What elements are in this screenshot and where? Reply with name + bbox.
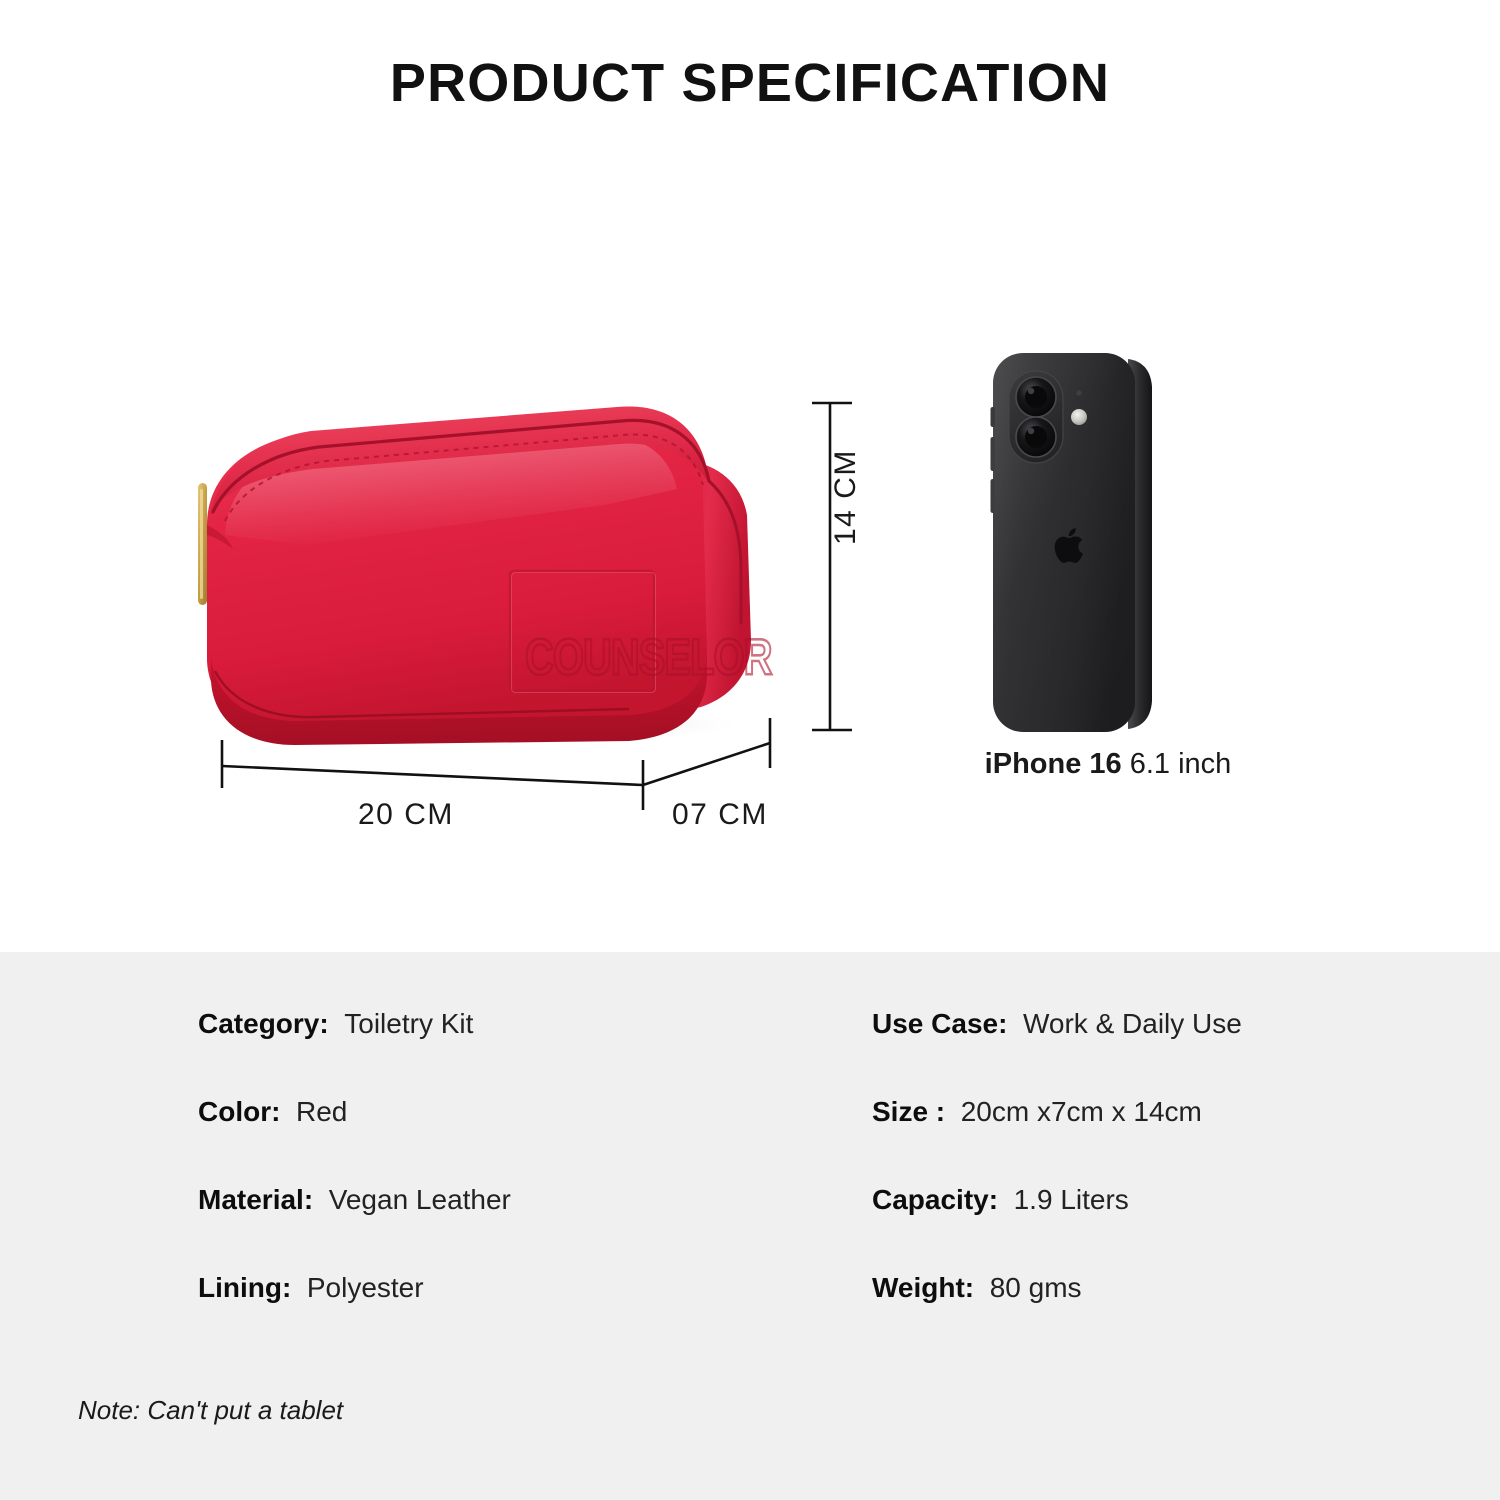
- spec-key: Use Case:: [872, 1008, 1007, 1039]
- spec-row: Category: Toiletry Kit: [198, 980, 818, 1068]
- spec-value: Polyester: [307, 1272, 424, 1303]
- spec-row: Lining: Polyester: [198, 1244, 818, 1332]
- spec-value: Vegan Leather: [329, 1184, 511, 1215]
- spec-row: Capacity: 1.9 Liters: [872, 1156, 1472, 1244]
- reference-phone-caption: iPhone 16 6.1 inch: [0, 748, 1500, 781]
- spec-row: Color: Red: [198, 1068, 818, 1156]
- spec-value: 20cm x7cm x 14cm: [961, 1096, 1202, 1127]
- brand-emboss-text: COUNSELOR: [525, 627, 772, 685]
- phone-action-button: [991, 407, 996, 427]
- spec-key: Material:: [198, 1184, 313, 1215]
- spec-note: Note: Can't put a tablet: [78, 1395, 343, 1426]
- phone-volume-button-up: [991, 437, 996, 471]
- spec-key: Weight:: [872, 1272, 974, 1303]
- phone-microphone-icon: [1076, 390, 1081, 395]
- spec-row: Material: Vegan Leather: [198, 1156, 818, 1244]
- phone-camera-lens-top-glint: [1028, 388, 1034, 394]
- spec-row: Weight: 80 gms: [872, 1244, 1472, 1332]
- spec-key: Color:: [198, 1096, 280, 1127]
- spec-key: Category:: [198, 1008, 329, 1039]
- zipper-pull-highlight: [200, 489, 203, 599]
- spec-value: 80 gms: [990, 1272, 1082, 1303]
- spec-value: Red: [296, 1096, 347, 1127]
- dimension-depth-label: 07 CM: [672, 798, 768, 832]
- spec-key: Capacity:: [872, 1184, 998, 1215]
- phone-camera-lens-bottom-glint: [1028, 428, 1034, 434]
- spec-key: Lining:: [198, 1272, 291, 1303]
- spec-key: Size :: [872, 1096, 945, 1127]
- phone-model-label: iPhone 16: [985, 748, 1122, 780]
- spec-column-right: Use Case: Work & Daily Use Size : 20cm x…: [872, 980, 1472, 1332]
- dimension-width-label: 20 CM: [358, 798, 454, 832]
- phone-flash-icon: [1071, 409, 1087, 425]
- dimension-height-label: 14 CM: [829, 449, 863, 545]
- spec-row: Size : 20cm x7cm x 14cm: [872, 1068, 1472, 1156]
- product-image-pouch: COUNSELOR: [185, 385, 805, 745]
- spec-value: 1.9 Liters: [1014, 1184, 1129, 1215]
- spec-value: Toiletry Kit: [344, 1008, 473, 1039]
- spec-column-left: Category: Toiletry Kit Color: Red Materi…: [198, 980, 818, 1332]
- spec-row: Use Case: Work & Daily Use: [872, 980, 1472, 1068]
- phone-volume-button-down: [991, 479, 996, 513]
- page-title: PRODUCT SPECIFICATION: [0, 52, 1500, 114]
- phone-screen-size-label: 6.1 inch: [1130, 748, 1232, 780]
- hero-section: PRODUCT SPECIFICATION: [0, 0, 1500, 952]
- spec-value: Work & Daily Use: [1023, 1008, 1242, 1039]
- reference-phone-image: [985, 345, 1165, 740]
